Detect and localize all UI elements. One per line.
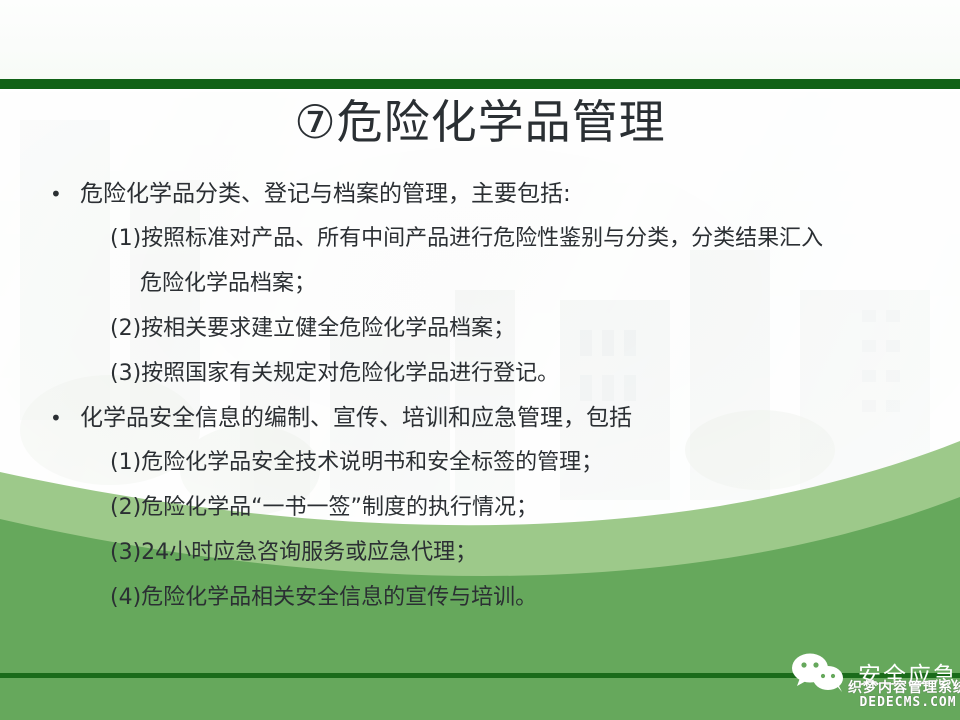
bullet-item-2: • 化学品安全信息的编制、宣传、培训和应急管理，包括 [0,396,960,440]
page-title: ⑦危险化学品管理 [0,93,960,151]
bullet-1-sub-3: (3)按照国家有关规定对危险化学品进行登记。 [0,351,960,396]
watermark-chinese: 织梦内容管理系统 [848,681,960,696]
watermark-english: DEDECMS.COM [848,696,960,710]
bullet-1-sub-1-continued: 危险化学品档案； [0,261,960,306]
bullet-2-text: 化学品安全信息的编制、宣传、培训和应急管理，包括 [80,396,960,440]
bullet-2-sub-1: (1)危险化学品安全技术说明书和安全标签的管理； [0,440,960,485]
bullet-item-1: • 危险化学品分类、登记与档案的管理，主要包括: [0,172,960,216]
slide-body: • 危险化学品分类、登记与档案的管理，主要包括: (1)按照标准对产品、所有中间… [0,172,960,620]
wechat-icon [790,652,848,694]
bullet-1-sub-1: (1)按照标准对产品、所有中间产品进行危险性鉴别与分类，分类结果汇入 [0,216,960,261]
bullet-marker-icon: • [50,172,80,216]
presentation-slide: ⑦危险化学品管理 • 危险化学品分类、登记与档案的管理，主要包括: (1)按照标… [0,0,960,720]
watermark: 织梦内容管理系统 DEDECMS.COM [848,681,960,709]
bullet-1-sub-2: (2)按相关要求建立健全危险化学品档案； [0,306,960,351]
bullet-marker-icon: • [50,396,80,440]
bullet-2-sub-2: (2)危险化学品“一书一签”制度的执行情况； [0,485,960,530]
bullet-1-text: 危险化学品分类、登记与档案的管理，主要包括: [80,172,960,216]
bullet-2-sub-3: (3)24小时应急咨询服务或应急代理； [0,530,960,575]
bullet-2-sub-4: (4)危险化学品相关安全信息的宣传与培训。 [0,575,960,620]
